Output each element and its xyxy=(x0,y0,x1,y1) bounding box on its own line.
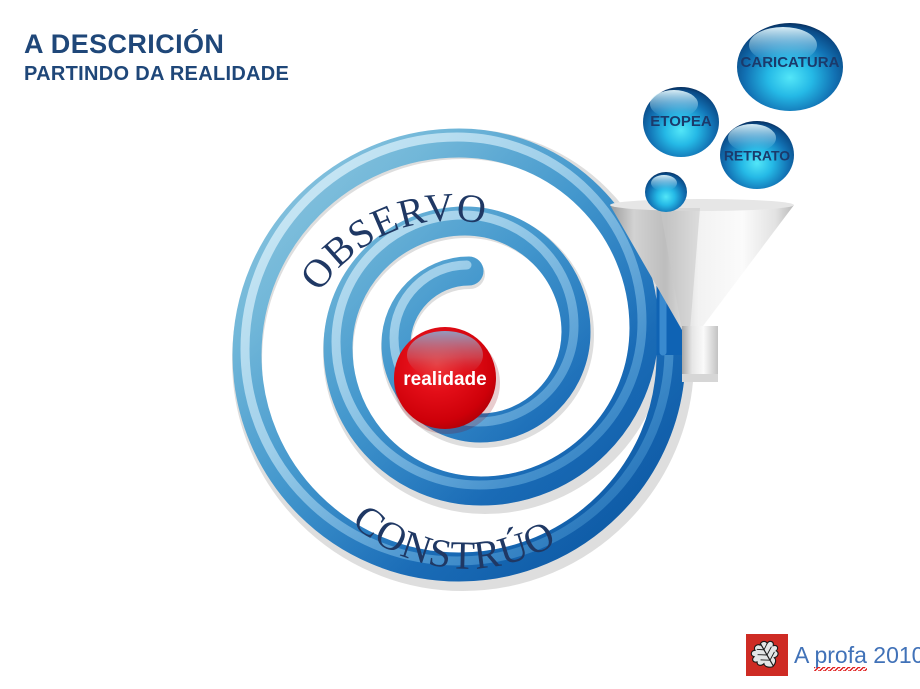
funnel-stem xyxy=(682,326,718,382)
credit-text: A profa 2010 xyxy=(794,644,920,667)
bubble-group: RETRATO ETOPEA CARICATURA xyxy=(643,23,843,212)
oak-leaf-logo xyxy=(746,634,788,676)
credit-flagged-word: profa xyxy=(814,644,866,667)
title-subtitle: PARTINDO DA REALIDADE xyxy=(24,64,289,85)
funnel-stem-lip xyxy=(682,374,718,382)
page-title: A DESCRICIÓN PARTINDO DA REALIDADE xyxy=(24,30,289,85)
bubble-caricatura: CARICATURA xyxy=(737,23,843,111)
bubble-small xyxy=(645,172,687,212)
bubble-etopea-label: ETOPEA xyxy=(650,113,712,130)
oak-leaf-icon xyxy=(746,634,788,676)
bubble-small-highlight xyxy=(651,175,677,191)
credit-block: A profa 2010 xyxy=(746,634,920,676)
funnel-rim xyxy=(610,199,794,211)
bubble-etopea: ETOPEA xyxy=(643,87,719,157)
bubble-retrato: RETRATO xyxy=(720,121,794,189)
core-label: realidade xyxy=(403,369,486,390)
slide-canvas: A DESCRICIÓN PARTINDO DA REALIDADE xyxy=(0,0,920,689)
realidade-sphere: realidade xyxy=(394,327,500,434)
bubble-retrato-label: RETRATO xyxy=(724,148,790,164)
credit-suffix: 2010 xyxy=(867,642,920,668)
bubble-caricatura-label: CARICATURA xyxy=(741,54,840,71)
title-main: A DESCRICIÓN xyxy=(24,30,289,58)
credit-prefix: A xyxy=(794,642,814,668)
spiral-funnel-diagram: OBSERVO CONSTRÚO realidade xyxy=(0,0,920,689)
